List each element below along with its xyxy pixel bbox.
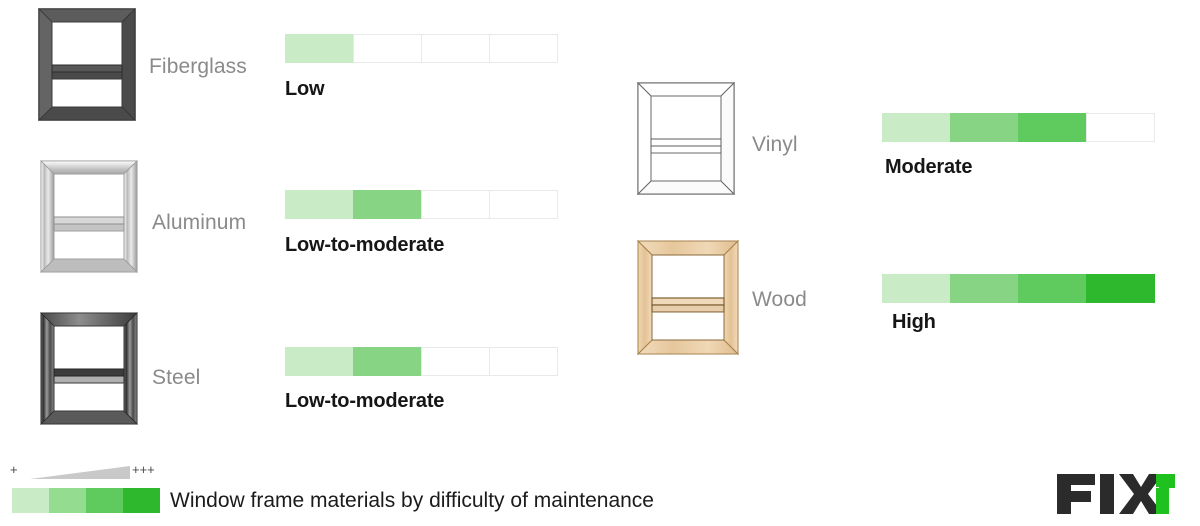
rating-bar-fiberglass: [285, 34, 558, 63]
gradient-wedge-icon: [30, 466, 130, 480]
rating-bar-aluminum: [285, 190, 558, 219]
rating-segment-3: [421, 34, 489, 63]
rating-segment-3: [421, 347, 489, 376]
rating-bar-wood: [882, 274, 1155, 303]
rating-segment-1: [285, 190, 353, 219]
rating-segment-2: [353, 347, 421, 376]
legend: + +++: [10, 464, 160, 519]
legend-swatch-3: [86, 488, 123, 513]
rating-caption-aluminum: Low-to-moderate: [285, 234, 444, 257]
rating-segment-3: [1018, 113, 1086, 142]
rating-segment-4: [489, 347, 558, 376]
legend-min-label: +: [10, 462, 18, 477]
chart-caption: Window frame materials by difficulty of …: [170, 489, 654, 513]
rating-segment-3: [1018, 274, 1086, 303]
rating-segment-4: [1086, 274, 1155, 303]
rating-caption-steel: Low-to-moderate: [285, 390, 444, 413]
vinyl-window-icon: [637, 82, 735, 195]
wood-window-icon: [637, 240, 739, 355]
material-label-fiberglass: Fiberglass: [149, 55, 247, 79]
rating-segment-1: [285, 34, 353, 63]
rating-segment-3: [421, 190, 489, 219]
rating-segment-2: [353, 34, 421, 63]
rating-segment-4: [489, 34, 558, 63]
rating-caption-fiberglass: Low: [285, 78, 324, 101]
legend-max-label: +++: [132, 462, 155, 477]
aluminum-window-icon: [40, 160, 138, 273]
fixr-logo[interactable]: [1055, 472, 1175, 516]
rating-bar-vinyl: [882, 113, 1155, 142]
rating-segment-4: [1086, 113, 1155, 142]
legend-swatch-4: [123, 488, 160, 513]
rating-caption-vinyl: Moderate: [885, 156, 972, 179]
rating-bar-steel: [285, 347, 558, 376]
rating-segment-1: [882, 274, 950, 303]
fixr-logo-icon: [1055, 472, 1175, 516]
rating-segment-2: [353, 190, 421, 219]
rating-segment-2: [950, 113, 1018, 142]
rating-segment-1: [882, 113, 950, 142]
legend-swatch-1: [12, 488, 49, 513]
infographic-canvas: Fiberglass Low: [0, 0, 1200, 526]
steel-window-icon: [40, 312, 138, 425]
legend-color-scale: [12, 488, 160, 513]
material-label-steel: Steel: [152, 366, 200, 390]
rating-caption-wood: High: [892, 311, 936, 334]
fiberglass-window-icon: [38, 8, 136, 121]
legend-swatch-2: [49, 488, 86, 513]
rating-segment-2: [950, 274, 1018, 303]
rating-segment-4: [489, 190, 558, 219]
material-label-vinyl: Vinyl: [752, 133, 798, 157]
material-label-aluminum: Aluminum: [152, 211, 246, 235]
material-label-wood: Wood: [752, 288, 807, 312]
rating-segment-1: [285, 347, 353, 376]
